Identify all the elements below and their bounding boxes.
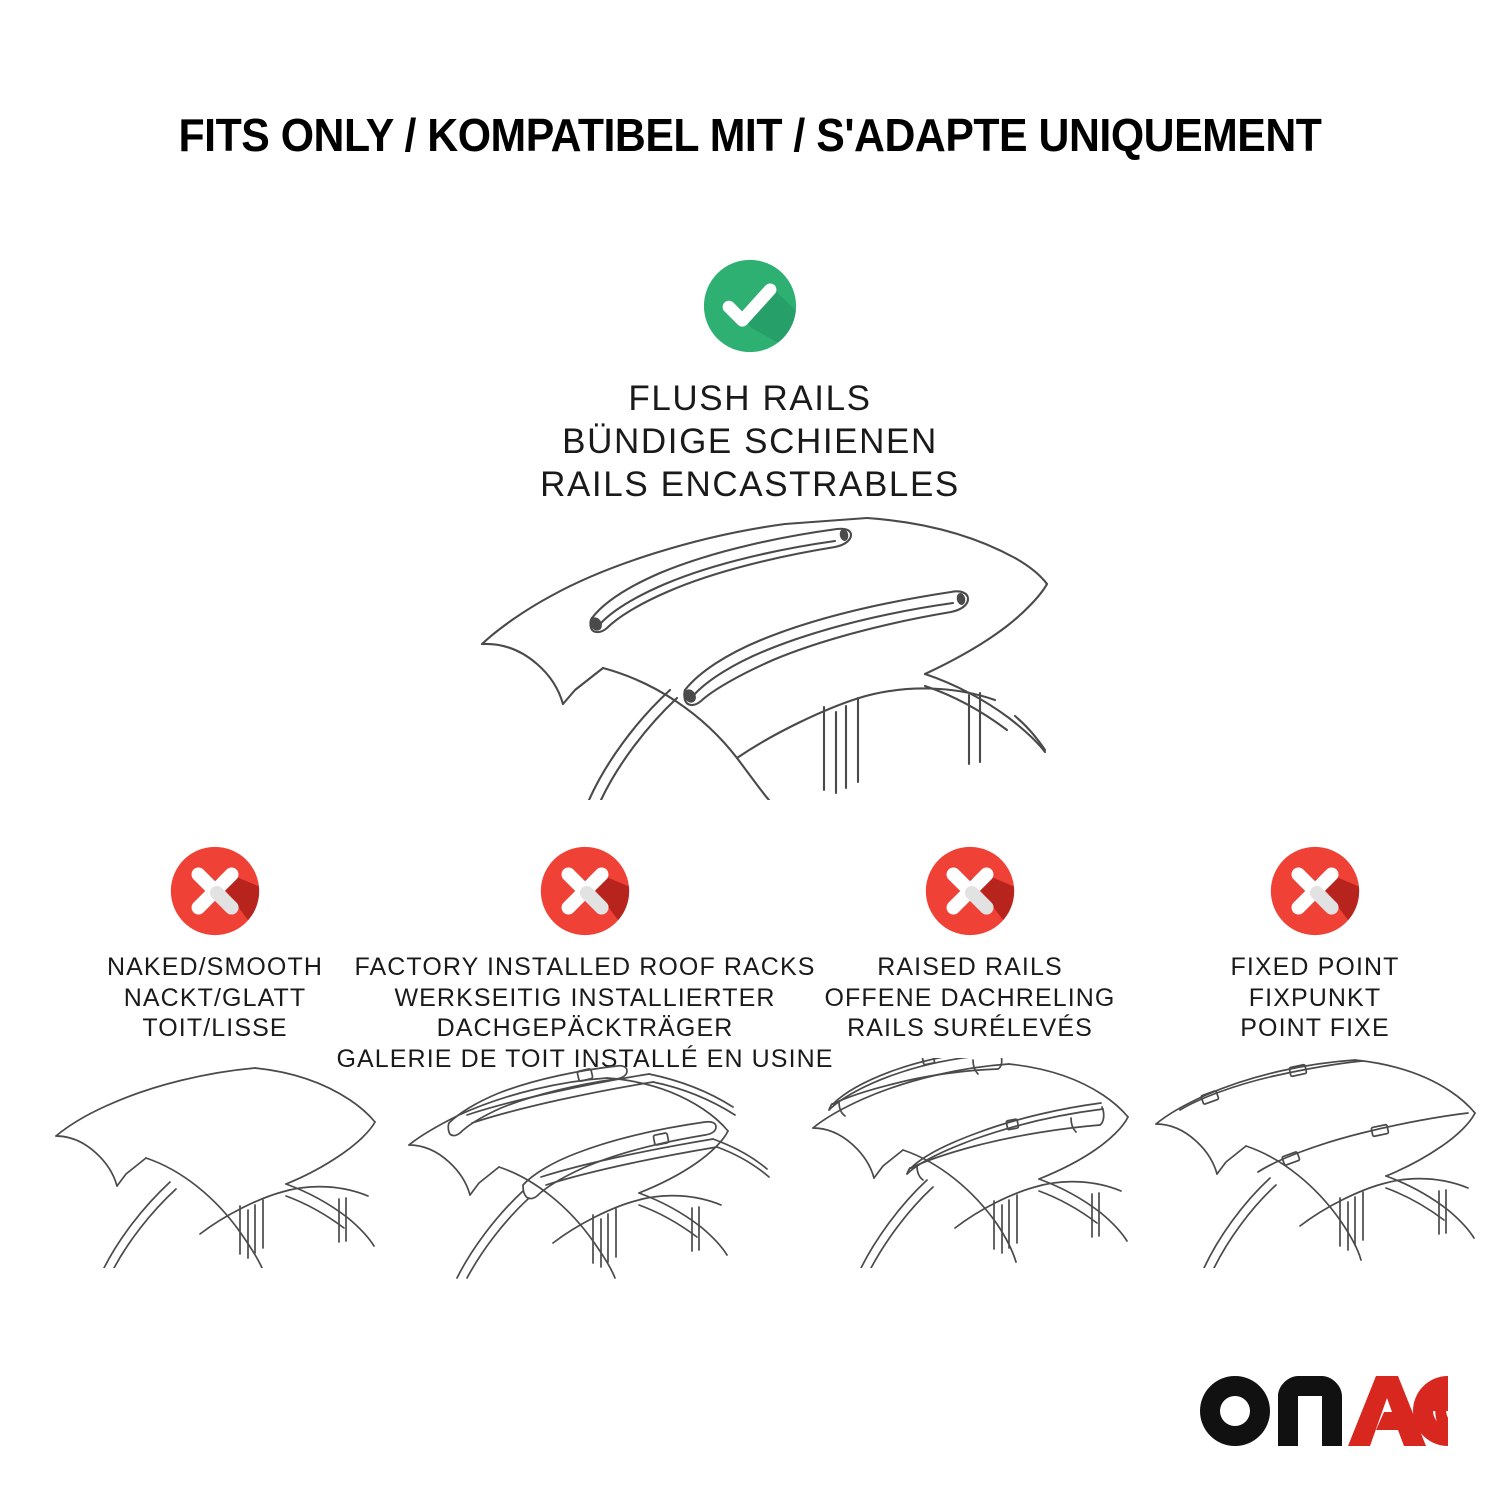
green-check-icon: [0, 258, 1500, 359]
car-roof-naked-smooth-illustration: [50, 1058, 380, 1268]
omac-logo: [1198, 1374, 1448, 1448]
incompatible-col-naked-smooth: NAKED/SMOOTH NACKT/GLATT TOIT/LISSE: [50, 845, 380, 1268]
incompatible-col-fixed-point: FIXED POINT FIXPUNKT POINT FIXE: [1150, 845, 1480, 1268]
red-cross-icon: [169, 845, 261, 942]
car-roof-fixed-point-illustration: [1150, 1058, 1480, 1268]
red-cross-icon: [1269, 845, 1361, 942]
compatible-label-de: BÜNDIGE SCHIENEN: [0, 420, 1500, 463]
label-fr: RAILS SURÉLEVÉS: [825, 1013, 1116, 1044]
incompatible-caption: FACTORY INSTALLED ROOF RACKS WERKSEITIG …: [336, 952, 833, 1074]
incompatible-col-factory-roof-racks: FACTORY INSTALLED ROOF RACKS WERKSEITIG …: [375, 845, 795, 1282]
car-roof-flush-rails-illustration: [455, 500, 1055, 800]
logo-letter-m: [1278, 1376, 1342, 1446]
incompatible-caption: FIXED POINT FIXPUNKT POINT FIXE: [1230, 952, 1399, 1044]
incompatible-col-raised-rails: RAISED RAILS OFFENE DACHRELING RAILS SUR…: [805, 845, 1135, 1268]
label-fr: POINT FIXE: [1230, 1013, 1399, 1044]
label-en: RAISED RAILS: [825, 952, 1116, 983]
label-de-2: DACHGEPÄCKTRÄGER: [336, 1013, 833, 1044]
compatible-block: FLUSH RAILS BÜNDIGE SCHIENEN RAILS ENCAS…: [0, 258, 1500, 506]
logo-letter-o: [1200, 1376, 1270, 1446]
car-roof-raised-rails-illustration: [795, 1058, 1145, 1268]
incompatible-caption: RAISED RAILS OFFENE DACHRELING RAILS SUR…: [825, 952, 1116, 1044]
label-en: FIXED POINT: [1230, 952, 1399, 983]
label-de-1: WERKSEITIG INSTALLIERTER: [336, 983, 833, 1014]
compatible-label-en: FLUSH RAILS: [0, 377, 1500, 420]
label-en: NAKED/SMOOTH: [107, 952, 323, 983]
incompatible-caption: NAKED/SMOOTH NACKT/GLATT TOIT/LISSE: [107, 952, 323, 1044]
red-cross-icon: [924, 845, 1016, 942]
car-roof-factory-roof-racks-illustration: [395, 1057, 775, 1282]
label-de: FIXPUNKT: [1230, 983, 1399, 1014]
red-cross-icon: [539, 845, 631, 942]
label-fr: TOIT/LISSE: [107, 1013, 323, 1044]
label-de: OFFENE DACHRELING: [825, 983, 1116, 1014]
incompatible-row: NAKED/SMOOTH NACKT/GLATT TOIT/LISSE: [0, 845, 1500, 1282]
label-en: FACTORY INSTALLED ROOF RACKS: [336, 952, 833, 983]
page-title: FITS ONLY / KOMPATIBEL MIT / S'ADAPTE UN…: [53, 108, 1448, 162]
label-de: NACKT/GLATT: [107, 983, 323, 1014]
compatible-caption: FLUSH RAILS BÜNDIGE SCHIENEN RAILS ENCAS…: [0, 377, 1500, 506]
